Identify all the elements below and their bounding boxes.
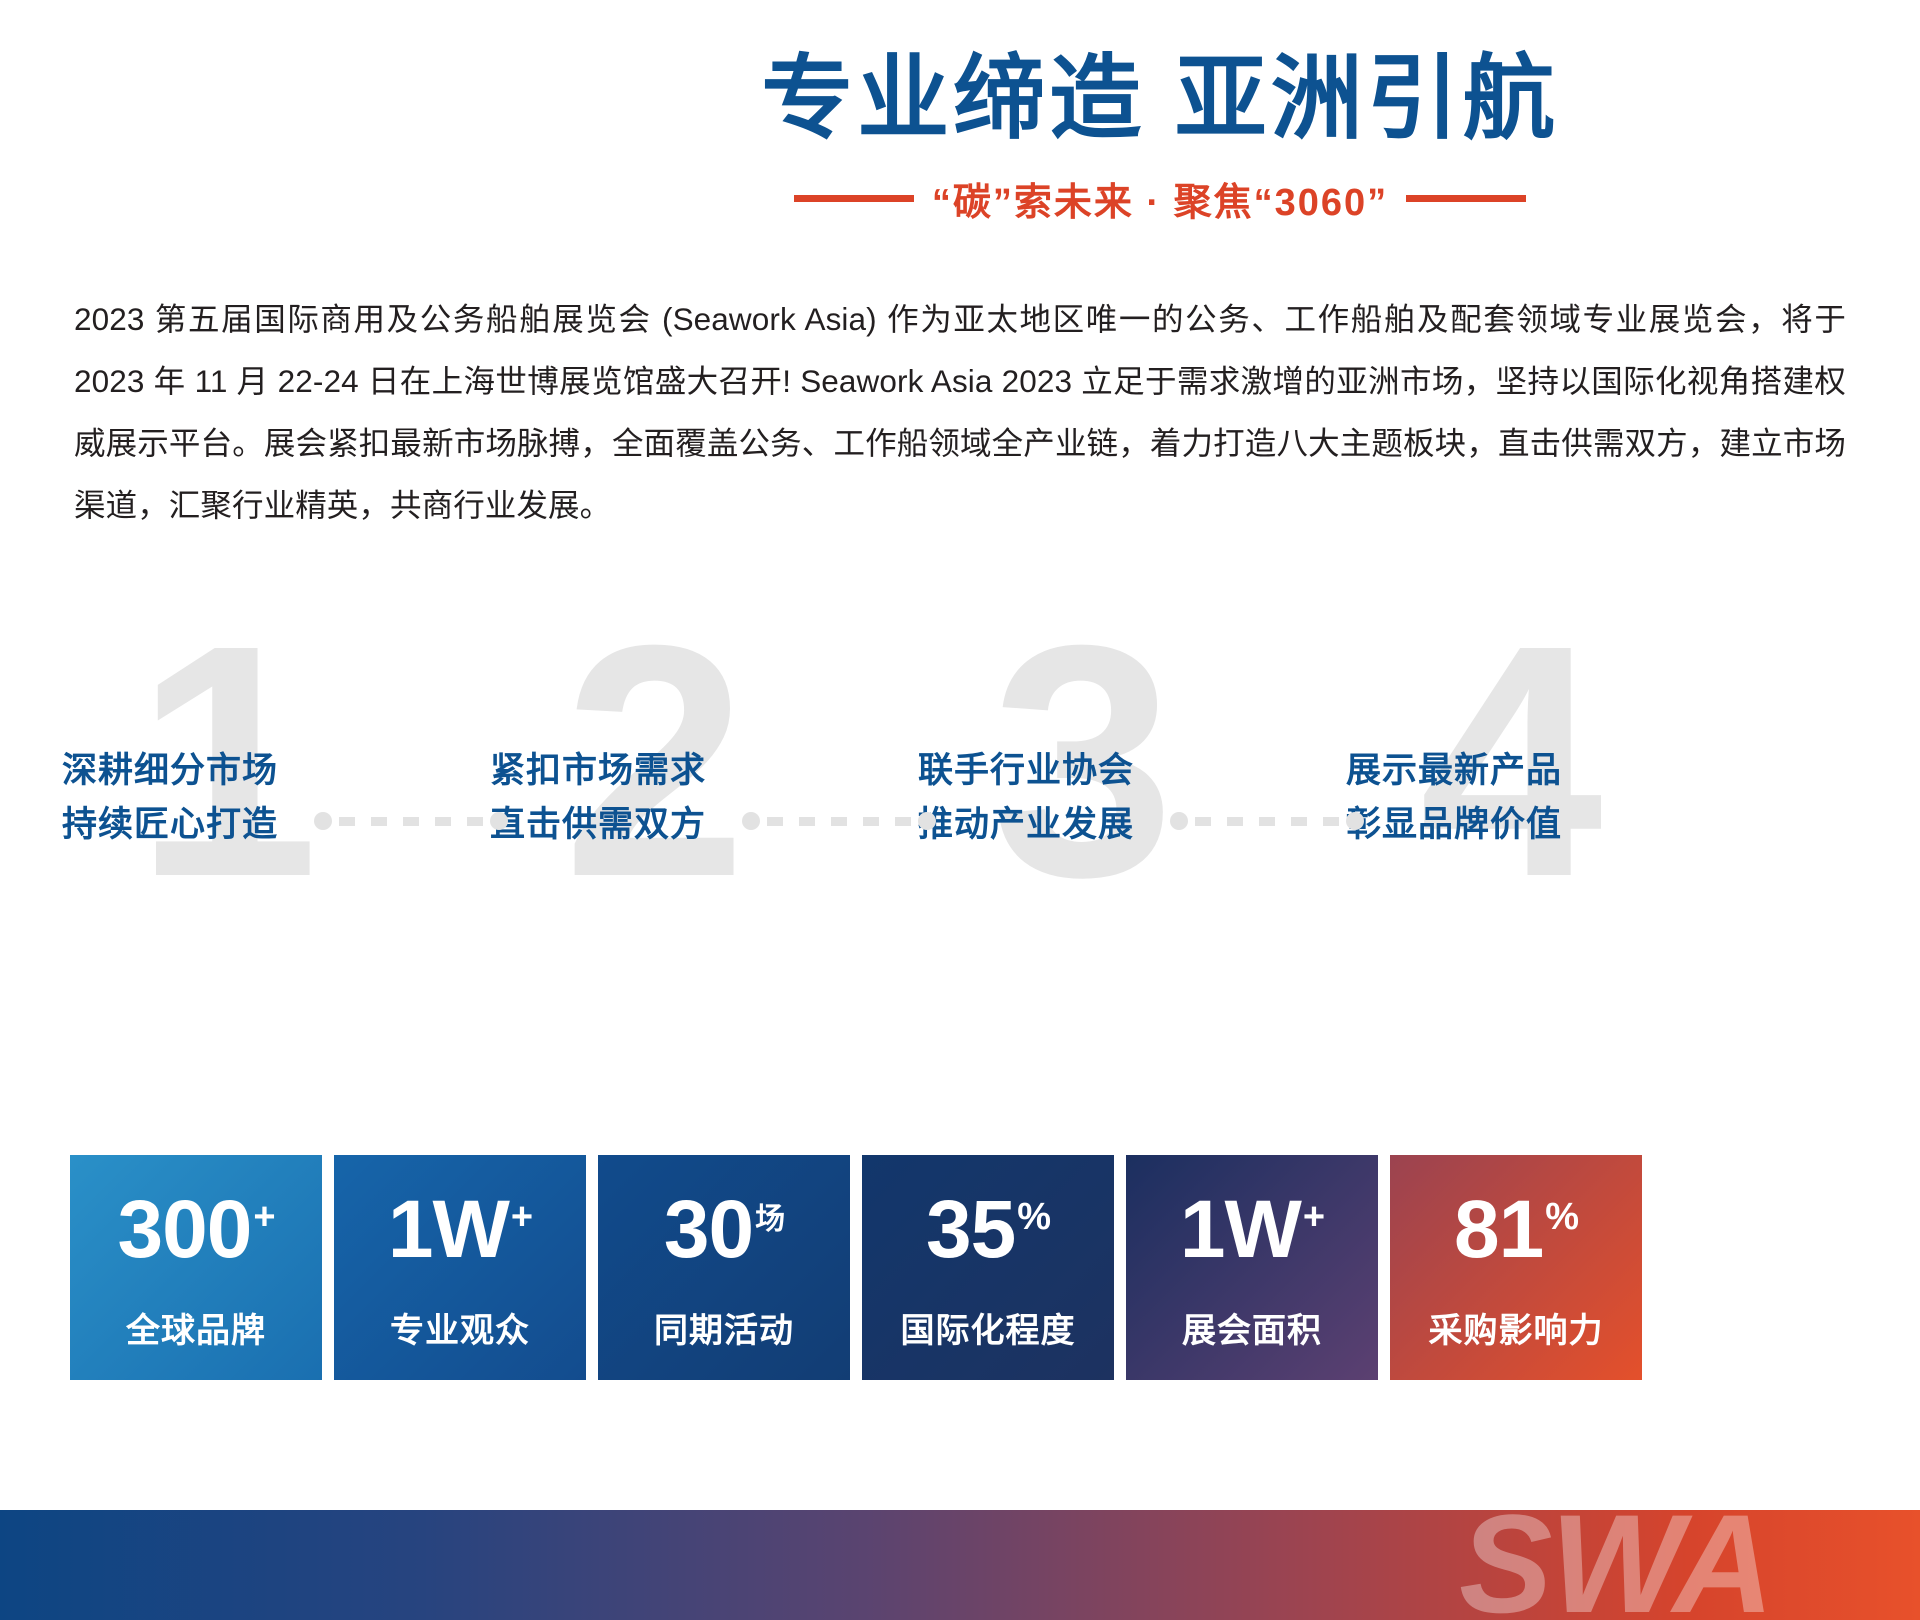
stat-superscript: + bbox=[253, 1196, 274, 1238]
rule-left-icon bbox=[794, 195, 914, 202]
step-label-line2: 彰显品牌价值 bbox=[1346, 798, 1676, 852]
step-label-line1: 联手行业协会 bbox=[918, 744, 1248, 798]
connector-dash-icon bbox=[767, 817, 911, 826]
footer-bar: SWA bbox=[0, 1510, 1920, 1620]
step-label: 联手行业协会 推动产业发展 bbox=[918, 744, 1248, 852]
hero-header: 专业缔造 亚洲引航 “碳”索未来 · 聚焦“3060” bbox=[0, 0, 1920, 226]
step-connector-icon bbox=[314, 812, 508, 830]
stat-number: 35 bbox=[926, 1184, 1015, 1275]
stat-tile-concurrent-events: 30场 同期活动 bbox=[598, 1155, 850, 1380]
stat-number: 1W bbox=[388, 1184, 509, 1275]
stat-caption: 国际化程度 bbox=[862, 1303, 1114, 1352]
swa-logo: SWA bbox=[1459, 1510, 1772, 1620]
intro-paragraph: 2023 第五届国际商用及公务船舶展览会 (Seawork Asia) 作为亚太… bbox=[74, 288, 1846, 536]
step-item-4: 4 展示最新产品 彰显品牌价值 bbox=[1346, 608, 1676, 938]
connector-dot-icon bbox=[1346, 812, 1364, 830]
stat-superscript: % bbox=[1545, 1196, 1578, 1238]
stat-value: 81% bbox=[1390, 1189, 1642, 1271]
stat-tile-exhibition-area: 1W+ 展会面积 bbox=[1126, 1155, 1378, 1380]
stat-number: 30 bbox=[664, 1184, 753, 1275]
stat-caption: 全球品牌 bbox=[70, 1303, 322, 1352]
stats-row: 300+ 全球品牌 1W+ 专业观众 30场 同期活动 35% 国际化程度 1W… bbox=[70, 1155, 1642, 1380]
stat-value: 1W+ bbox=[1126, 1189, 1378, 1271]
connector-dash-icon bbox=[1195, 817, 1339, 826]
steps-row: 1 深耕细分市场 持续匠心打造 2 紧扣市场需求 直击供需双方 3 联手行业协会… bbox=[0, 608, 1920, 938]
stat-superscript: + bbox=[511, 1196, 532, 1238]
connector-dot-icon bbox=[742, 812, 760, 830]
step-connector-icon bbox=[742, 812, 936, 830]
connector-dot-icon bbox=[1170, 812, 1188, 830]
stat-number: 300 bbox=[117, 1184, 251, 1275]
subtitle-row: “碳”索未来 · 聚焦“3060” bbox=[440, 171, 1920, 226]
stat-value: 1W+ bbox=[334, 1189, 586, 1271]
stat-value: 300+ bbox=[70, 1189, 322, 1271]
stat-tile-internationalization: 35% 国际化程度 bbox=[862, 1155, 1114, 1380]
connector-dot-icon bbox=[314, 812, 332, 830]
rule-right-icon bbox=[1406, 195, 1526, 202]
stat-caption: 同期活动 bbox=[598, 1303, 850, 1352]
stat-superscript: 场 bbox=[755, 1203, 784, 1236]
stat-value: 35% bbox=[862, 1189, 1114, 1271]
stat-tile-global-brands: 300+ 全球品牌 bbox=[70, 1155, 322, 1380]
stat-number: 81 bbox=[1454, 1184, 1543, 1275]
stat-number: 1W bbox=[1180, 1184, 1301, 1275]
stat-caption: 采购影响力 bbox=[1390, 1303, 1642, 1352]
stat-value: 30场 bbox=[598, 1189, 850, 1271]
stat-tile-purchasing-influence: 81% 采购影响力 bbox=[1390, 1155, 1642, 1380]
step-label-line1: 紧扣市场需求 bbox=[490, 744, 820, 798]
stat-tile-professional-visitors: 1W+ 专业观众 bbox=[334, 1155, 586, 1380]
step-item-3: 3 联手行业协会 推动产业发展 bbox=[918, 608, 1248, 938]
stat-caption: 专业观众 bbox=[334, 1303, 586, 1352]
connector-dot-icon bbox=[918, 812, 936, 830]
page-subtitle: “碳”索未来 · 聚焦“3060” bbox=[932, 171, 1388, 226]
connector-dash-icon bbox=[339, 817, 483, 826]
step-label-line1: 深耕细分市场 bbox=[62, 744, 392, 798]
stat-superscript: % bbox=[1017, 1196, 1050, 1238]
step-label: 深耕细分市场 持续匠心打造 bbox=[62, 744, 392, 852]
stat-superscript: + bbox=[1303, 1196, 1324, 1238]
step-label-line1: 展示最新产品 bbox=[1346, 744, 1676, 798]
step-label: 紧扣市场需求 直击供需双方 bbox=[490, 744, 820, 852]
step-item-1: 1 深耕细分市场 持续匠心打造 bbox=[62, 608, 392, 938]
connector-dot-icon bbox=[490, 812, 508, 830]
step-item-2: 2 紧扣市场需求 直击供需双方 bbox=[490, 608, 820, 938]
step-connector-icon bbox=[1170, 812, 1364, 830]
stat-caption: 展会面积 bbox=[1126, 1303, 1378, 1352]
step-label: 展示最新产品 彰显品牌价值 bbox=[1346, 744, 1676, 852]
page-title: 专业缔造 亚洲引航 bbox=[440, 48, 1920, 151]
